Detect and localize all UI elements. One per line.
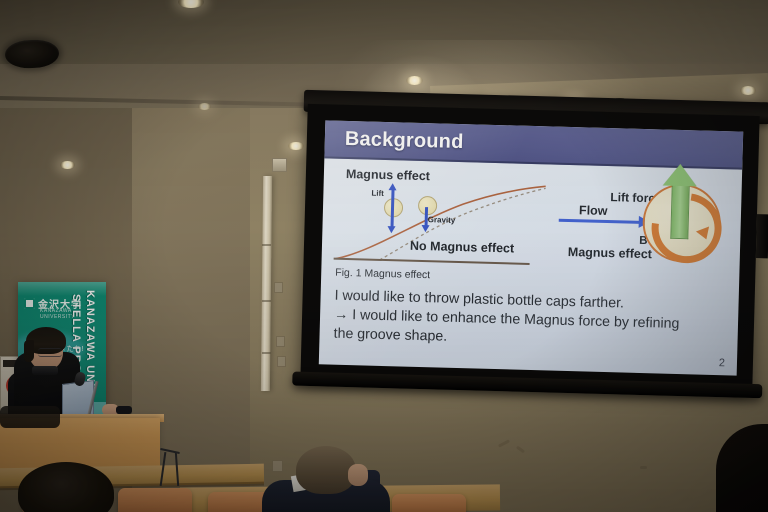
lecture-hall-photo: Background Magnus effect No Magnus effec… [0,0,768,512]
wall-outlet-box [272,158,287,172]
wall-switch-plate [274,282,283,293]
label-magnus-effect: Magnus effect [346,167,430,183]
slide-title: Background [345,128,464,154]
gravity-arrow-head-icon [421,225,429,232]
projected-slide: Background Magnus effect No Magnus effec… [319,120,743,375]
university-logo-icon [24,298,35,309]
wall-switch-plate [272,460,283,472]
slide-figure-area: Magnus effect No Magnus effect Lift Grav… [321,160,742,281]
presentation-clicker [116,406,132,414]
ceiling-face [0,0,768,64]
speaker-collar [32,366,58,375]
conduit-seam [262,244,271,246]
glasses-icon [38,348,62,357]
ceiling-downlight [406,76,423,85]
label-magnus-effect-right: Magnus effect [568,245,652,261]
figure-caption: Fig. 1 Magnus effect [335,267,430,282]
ceiling-downlight [740,86,756,95]
speaker-hair-side [24,340,34,362]
chair [392,494,466,512]
wall-mark [640,466,647,469]
slide-page-number: 2 [719,357,725,369]
attendee-head [296,446,356,494]
lift-force-arrow-head-icon [663,164,698,187]
label-lift: Lift [371,189,384,198]
conduit-seam [262,352,271,354]
ceiling-downlight [198,103,211,110]
conduit-seam [262,300,271,302]
projection-screen-assembly: Background Magnus effect No Magnus effec… [300,98,764,398]
lift-arrow-head-down-icon [387,226,395,233]
attendee-hand [348,464,368,486]
slide-body-text: I would like to throw plastic bottle cap… [333,287,726,355]
wall-switch-plate [277,356,286,367]
wall-switch-plate [276,336,285,347]
lift-force-arrow-shaft [670,182,690,239]
chair [118,488,192,512]
ceiling-downlight [288,142,304,150]
label-no-magnus-effect: No Magnus effect [410,239,515,256]
label-flow: Flow [579,203,608,218]
label-gravity: Gravity [428,215,456,225]
ceiling-downlight [60,161,75,169]
screen-side-bracket [756,214,768,258]
attendee-blur-topleft [0,406,60,428]
lift-arrow-head-up-icon [389,183,397,190]
